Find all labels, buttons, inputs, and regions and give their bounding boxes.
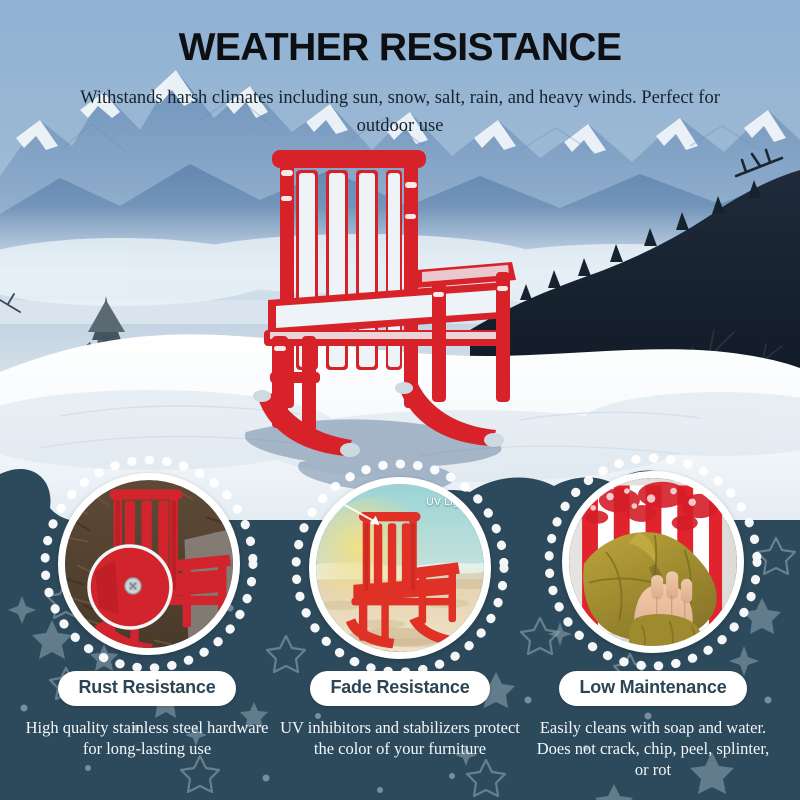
- feature-label-low-maintenance[interactable]: Low Maintenance: [559, 671, 746, 706]
- page-title: WEATHER RESISTANCE: [0, 26, 800, 70]
- feature-description-rust-resistance: High quality stainless steel hardware fo…: [22, 717, 272, 759]
- uv-light-callout: UV Light: [426, 496, 468, 508]
- feature-card-fade-resistance: Fade Resistance UV inhibitors and stabil…: [275, 671, 525, 759]
- feature-image-fade-resistance[interactable]: UV Light: [309, 477, 491, 659]
- infographic-root: WEATHER RESISTANCE Withstands harsh clim…: [0, 0, 800, 800]
- page-subtitle: Withstands harsh climates including sun,…: [50, 84, 750, 140]
- hand-wiping-striped-surface-image: [569, 478, 737, 646]
- feature-card-low-maintenance: Low Maintenance Easily cleans with soap …: [528, 671, 778, 780]
- feature-description-fade-resistance: UV inhibitors and stabilizers protect th…: [275, 717, 525, 759]
- feature-card-rust-resistance: Rust Resistance High quality stainless s…: [22, 671, 272, 759]
- feature-image-low-maintenance[interactable]: [562, 471, 744, 653]
- feature-description-low-maintenance: Easily cleans with soap and water. Does …: [528, 717, 778, 780]
- hardware-magnifier-inset: [85, 542, 175, 632]
- feature-label-rust-resistance[interactable]: Rust Resistance: [58, 671, 235, 706]
- feature-image-rust-resistance[interactable]: [58, 473, 240, 655]
- hero-photo: [0, 0, 800, 520]
- red-chair-on-beach-image: [316, 484, 484, 652]
- feature-label-fade-resistance[interactable]: Fade Resistance: [310, 671, 489, 706]
